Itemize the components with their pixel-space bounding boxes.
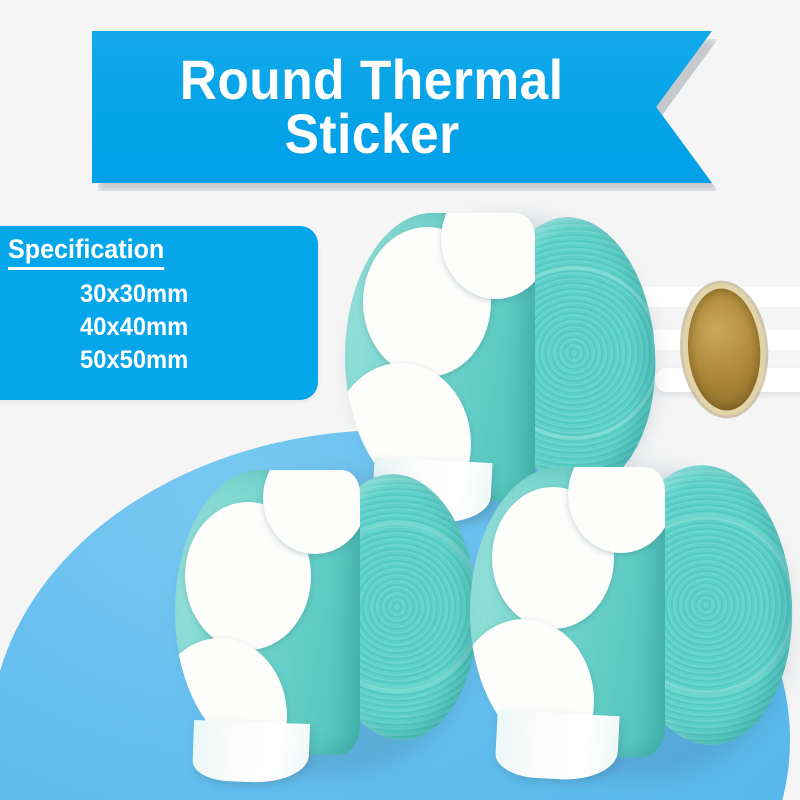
banner-title-line1: Round Thermal	[180, 53, 564, 107]
roll-label-body	[175, 470, 360, 755]
sticker-roll-bottom-right	[470, 455, 780, 765]
roll-hanging-strip	[494, 710, 619, 782]
banner-text: Round Thermal Sticker	[92, 31, 652, 183]
spec-size-item: 30x30mm	[80, 278, 188, 311]
spec-size-item: 40x40mm	[80, 311, 188, 344]
banner-title-line2: Sticker	[284, 107, 459, 161]
roll-hanging-strip	[192, 720, 310, 784]
specification-size-list: 30x30mm 40x40mm 50x50mm	[80, 278, 194, 377]
specification-title: Specification	[8, 234, 164, 270]
title-banner: Round Thermal Sticker	[92, 31, 712, 183]
spec-size-item: 50x50mm	[80, 344, 188, 377]
specification-panel: Specification 30x30mm 40x40mm 50x50mm	[0, 226, 318, 400]
product-image-canvas: Round Thermal Sticker Specification 30x3…	[0, 0, 800, 800]
sticker-roll-bottom-left	[175, 460, 465, 760]
